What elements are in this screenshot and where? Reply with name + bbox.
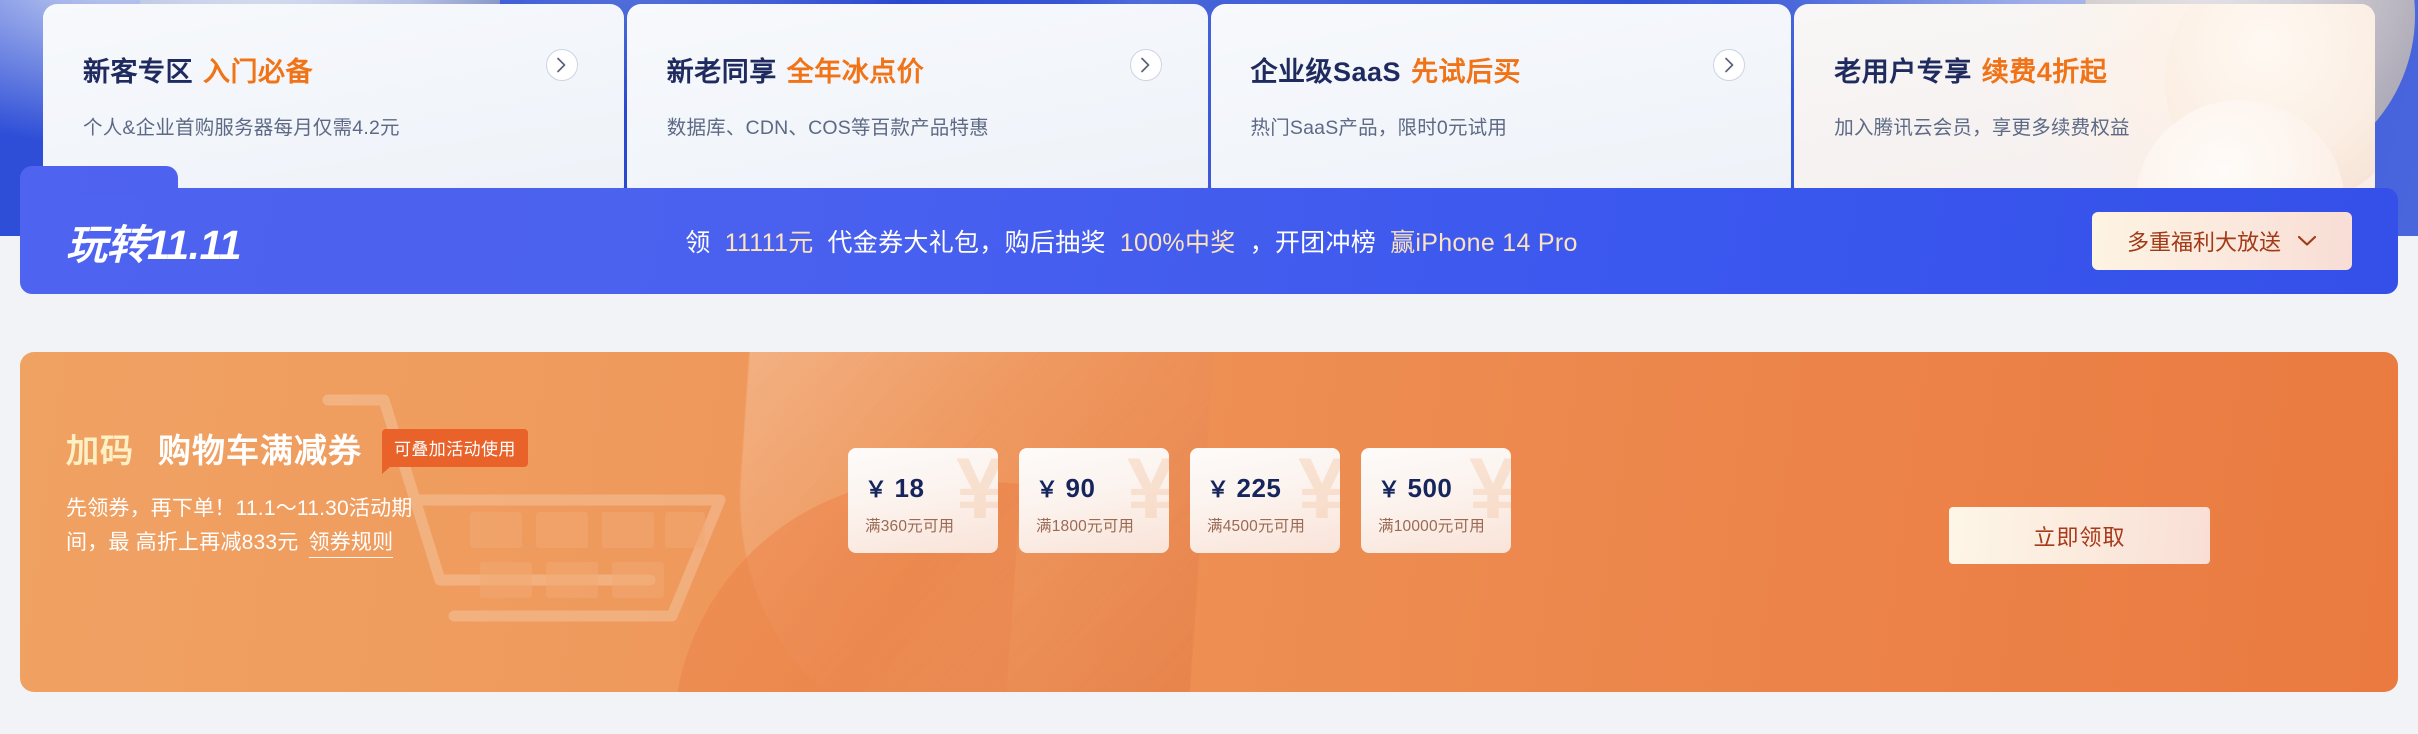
promo-card-title: 老用户专享续费4折起 <box>1834 50 2375 89</box>
promo-card-subtitle: 个人&企业首购服务器每月仅需4.2元 <box>83 111 624 140</box>
promo-card-title-accent: 全年冰点价 <box>787 57 925 87</box>
coupon-amount: ￥225 <box>1207 472 1340 504</box>
coupon-condition: 满360元可用 <box>865 514 998 536</box>
coupon-condition: 满4500元可用 <box>1207 514 1340 536</box>
coupon-kicker: 加码 <box>66 424 134 472</box>
coupon-amount-value: 500 <box>1408 473 1453 503</box>
coupon-info-block: 加码 购物车满减券 可叠加活动使用 先领券，再下单！11.1～11.30活动期间… <box>66 424 766 560</box>
coupon-amount-value: 225 <box>1237 473 1282 503</box>
promo-card-all-user[interactable]: 新老同享全年冰点价 数据库、CDN、COS等百款产品特惠 <box>627 4 1208 200</box>
double11-banner: 玩转11.11 领11111元代金券大礼包，购后抽奖100%中奖，开团冲榜赢iP… <box>20 188 2398 294</box>
banner-text-part1: 领 <box>685 229 710 257</box>
coupon-card[interactable]: ¥ ￥90 满1800元可用 <box>1019 448 1169 553</box>
coupon-card[interactable]: ¥ ￥500 满10000元可用 <box>1361 448 1511 553</box>
currency-symbol: ￥ <box>1207 477 1230 502</box>
coupon-condition: 满10000元可用 <box>1378 514 1511 536</box>
banner-text-highlight-amount: 11111元 <box>725 229 814 257</box>
coupon-description-line2: 高折上再减833元 <box>136 531 299 554</box>
multi-benefit-dropdown-label: 多重福利大放送 <box>2127 225 2281 257</box>
coupon-list: ¥ ￥18 满360元可用 ¥ ￥90 满1800元可用 ¥ ￥225 满450… <box>848 448 1511 553</box>
chevron-right-icon[interactable] <box>1713 49 1745 81</box>
promo-card-title-accent: 续费4折起 <box>1982 57 2108 87</box>
coupon-amount: ￥18 <box>865 472 998 504</box>
coupon-card[interactable]: ¥ ￥18 满360元可用 <box>848 448 998 553</box>
coupon-amount: ￥90 <box>1036 472 1169 504</box>
promo-card-subtitle: 热门SaaS产品，限时0元试用 <box>1251 111 1792 140</box>
currency-symbol: ￥ <box>1378 477 1401 502</box>
banner-message: 领11111元代金券大礼包，购后抽奖100%中奖，开团冲榜赢iPhone 14 … <box>171 223 2092 259</box>
coupon-heading: 加码 购物车满减券 可叠加活动使用 <box>66 424 766 472</box>
coupon-card[interactable]: ¥ ￥225 满4500元可用 <box>1190 448 1340 553</box>
currency-symbol: ￥ <box>1036 477 1059 502</box>
promo-card-title-accent: 入门必备 <box>203 57 313 87</box>
coupon-amount-value: 90 <box>1066 473 1096 503</box>
promotion-page: 新客专区入门必备 个人&企业首购服务器每月仅需4.2元 新老同享全年冰点价 数据… <box>0 0 2418 734</box>
promo-card-title-main: 老用户专享 <box>1834 57 1972 87</box>
promo-card-title: 企业级SaaS先试后买 <box>1251 50 1792 89</box>
banner-text-part3: 代金券大礼包，购后抽奖 <box>828 229 1106 257</box>
coupon-amount: ￥500 <box>1378 472 1511 504</box>
promo-card-title: 新老同享全年冰点价 <box>667 50 1208 89</box>
promo-card-list: 新客专区入门必备 个人&企业首购服务器每月仅需4.2元 新老同享全年冰点价 数据… <box>0 0 2418 196</box>
promo-card-title: 新客专区入门必备 <box>83 50 624 89</box>
promo-card-subtitle: 数据库、CDN、COS等百款产品特惠 <box>667 111 1208 140</box>
promo-card-title-accent: 先试后买 <box>1411 57 1521 87</box>
promo-card-subtitle: 加入腾讯云会员，享更多续费权益 <box>1834 111 2375 140</box>
promo-card-saas[interactable]: 企业级SaaS先试后买 热门SaaS产品，限时0元试用 <box>1211 4 1792 200</box>
promo-card-title-main: 新客专区 <box>83 57 193 87</box>
chevron-right-icon[interactable] <box>1130 49 1162 81</box>
promo-card-title-main: 新老同享 <box>667 57 777 87</box>
status-badge: 可叠加活动使用 <box>382 429 528 467</box>
coupon-condition: 满1800元可用 <box>1036 514 1169 536</box>
banner-text-highlight-winrate: 100%中奖 <box>1120 229 1236 257</box>
promo-card-title-main: 企业级SaaS <box>1251 57 1402 87</box>
currency-symbol: ￥ <box>865 477 888 502</box>
banner-text-part5: ，开团冲榜 <box>1250 229 1377 257</box>
multi-benefit-dropdown-button[interactable]: 多重福利大放送 <box>2092 212 2352 270</box>
coupon-rule-link[interactable]: 领券规则 <box>309 531 394 558</box>
chevron-down-icon <box>2297 235 2317 247</box>
chevron-right-icon[interactable] <box>546 49 578 81</box>
coupon-amount-value: 18 <box>895 473 925 503</box>
coupon-title: 购物车满减券 <box>158 424 362 472</box>
claim-coupon-button[interactable]: 立即领取 <box>1949 507 2210 564</box>
promo-card-renewal[interactable]: 老用户专享续费4折起 加入腾讯云会员，享更多续费权益 <box>1794 4 2375 200</box>
coupon-description: 先领券，再下单！11.1～11.30活动期间，最 高折上再减833元领券规则 <box>66 492 421 560</box>
banner-text-highlight-prize: 赢iPhone 14 Pro <box>1390 229 1578 257</box>
